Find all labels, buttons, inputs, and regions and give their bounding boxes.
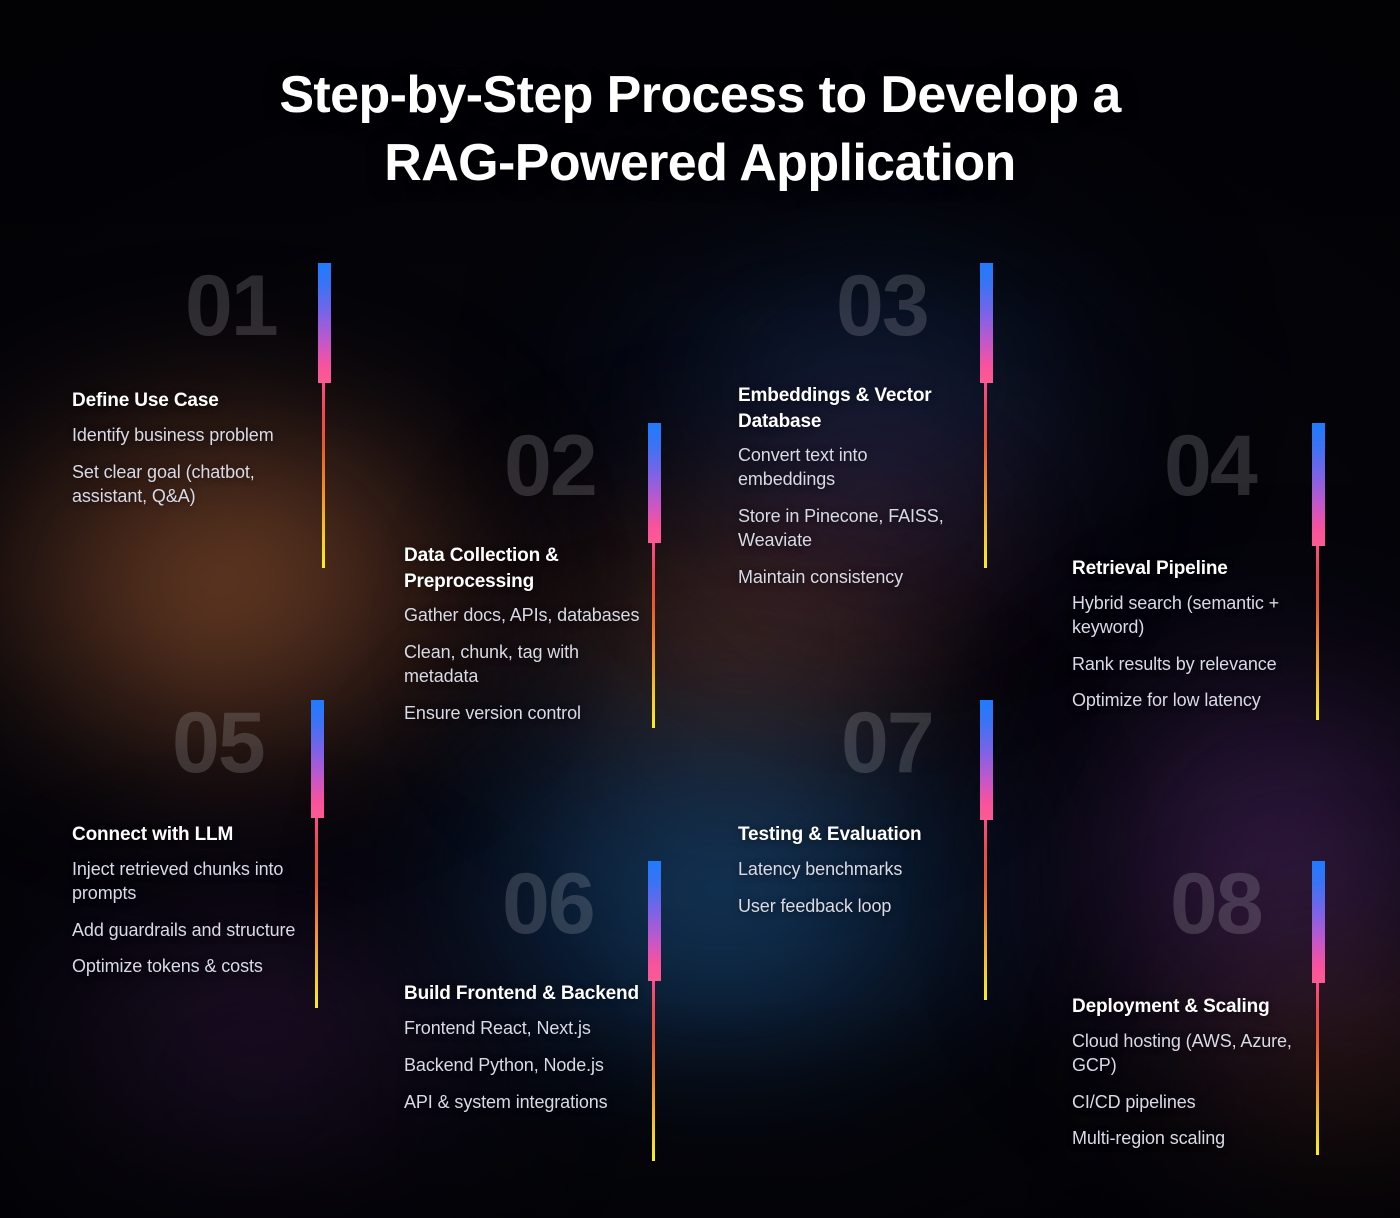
step-rail-thin-02 [652,543,655,728]
step-rail-thick-03 [980,263,993,383]
step-rail-05 [311,700,324,1008]
step-number-06: 06 [502,861,594,947]
step-rail-02 [648,423,661,728]
list-item: Rank results by relevance [1072,653,1330,677]
step-number-03: 03 [836,263,928,349]
step-number-04: 04 [1164,423,1256,509]
step-list-01: Identify business problem Set clear goal… [72,424,334,509]
step-rail-thin-05 [315,818,318,1008]
step-title-06: Build Frontend & Backend [404,981,664,1007]
page-title: Step-by-Step Process to Develop a RAG-Po… [0,62,1400,197]
list-item: Identify business problem [72,424,334,448]
list-item: Hybrid search (semantic + keyword) [1072,592,1330,640]
list-item: Convert text into embeddings [738,444,968,492]
step-list-07: Latency benchmarks User feedback loop [738,858,1000,919]
step-rail-thin-07 [984,820,987,1000]
list-item: Optimize for low latency [1072,689,1330,713]
step-list-02: Gather docs, APIs, databases Clean, chun… [404,604,656,726]
list-item: Gather docs, APIs, databases [404,604,656,628]
step-rail-thick-02 [648,423,661,543]
list-item: Ensure version control [404,702,656,726]
step-content-06: Build Frontend & Backend Frontend React,… [404,981,664,1114]
list-item: API & system integrations [404,1091,664,1115]
step-rail-thick-01 [318,263,331,383]
step-list-03: Convert text into embeddings Store in Pi… [738,444,968,590]
step-number-01: 01 [185,263,277,349]
step-list-04: Hybrid search (semantic + keyword) Rank … [1072,592,1330,714]
step-list-06: Frontend React, Next.js Backend Python, … [404,1017,664,1115]
step-title-04: Retrieval Pipeline [1072,556,1330,582]
step-rail-thick-08 [1312,861,1325,983]
step-content-02: Data Collection & Preprocessing Gather d… [404,543,656,726]
list-item: Latency benchmarks [738,858,1000,882]
list-item: Maintain consistency [738,566,968,590]
list-item: Set clear goal (chatbot, assistant, Q&A) [72,461,334,509]
step-content-03: Embeddings & Vector Database Convert tex… [738,383,968,590]
step-rail-thin-06 [652,981,655,1161]
step-rail-03 [980,263,993,568]
step-title-01: Define Use Case [72,388,334,414]
step-rail-thick-05 [311,700,324,818]
infographic-canvas: Step-by-Step Process to Develop a RAG-Po… [0,0,1400,1218]
step-number-07: 07 [841,700,933,786]
step-content-01: Define Use Case Identify business proble… [72,388,334,508]
list-item: Add guardrails and structure [72,919,330,943]
step-rail-thin-03 [984,383,987,568]
step-content-08: Deployment & Scaling Cloud hosting (AWS,… [1072,994,1332,1151]
step-rail-thick-06 [648,861,661,981]
list-item: User feedback loop [738,895,1000,919]
step-rail-08 [1312,861,1325,1155]
step-list-05: Inject retrieved chunks into prompts Add… [72,858,330,980]
step-title-03: Embeddings & Vector Database [738,383,968,434]
step-content-04: Retrieval Pipeline Hybrid search (semant… [1072,556,1330,713]
list-item: Inject retrieved chunks into prompts [72,858,330,906]
step-title-07: Testing & Evaluation [738,822,1000,848]
page-title-line-2: RAG-Powered Application [0,130,1400,198]
step-number-05: 05 [172,700,264,786]
step-title-02: Data Collection & Preprocessing [404,543,656,594]
step-rail-01 [318,263,331,568]
list-item: Store in Pinecone, FAISS, Weaviate [738,505,968,553]
list-item: Frontend React, Next.js [404,1017,664,1041]
page-title-line-1: Step-by-Step Process to Develop a [0,62,1400,130]
step-rail-thick-04 [1312,423,1325,546]
step-list-08: Cloud hosting (AWS, Azure, GCP) CI/CD pi… [1072,1030,1332,1152]
list-item: Optimize tokens & costs [72,955,330,979]
step-rail-07 [980,700,993,1000]
list-item: Backend Python, Node.js [404,1054,664,1078]
step-content-05: Connect with LLM Inject retrieved chunks… [72,822,330,979]
list-item: Cloud hosting (AWS, Azure, GCP) [1072,1030,1332,1078]
step-title-08: Deployment & Scaling [1072,994,1332,1020]
step-number-02: 02 [504,423,596,509]
step-rail-04 [1312,423,1325,720]
step-rail-thin-01 [322,383,325,568]
step-rail-thin-04 [1316,546,1319,720]
list-item: CI/CD pipelines [1072,1091,1332,1115]
step-rail-06 [648,861,661,1161]
step-title-05: Connect with LLM [72,822,330,848]
step-content-07: Testing & Evaluation Latency benchmarks … [738,822,1000,919]
list-item: Clean, chunk, tag with metadata [404,641,656,689]
step-rail-thick-07 [980,700,993,820]
step-rail-thin-08 [1316,983,1319,1155]
step-number-08: 08 [1170,861,1262,947]
list-item: Multi-region scaling [1072,1127,1332,1151]
